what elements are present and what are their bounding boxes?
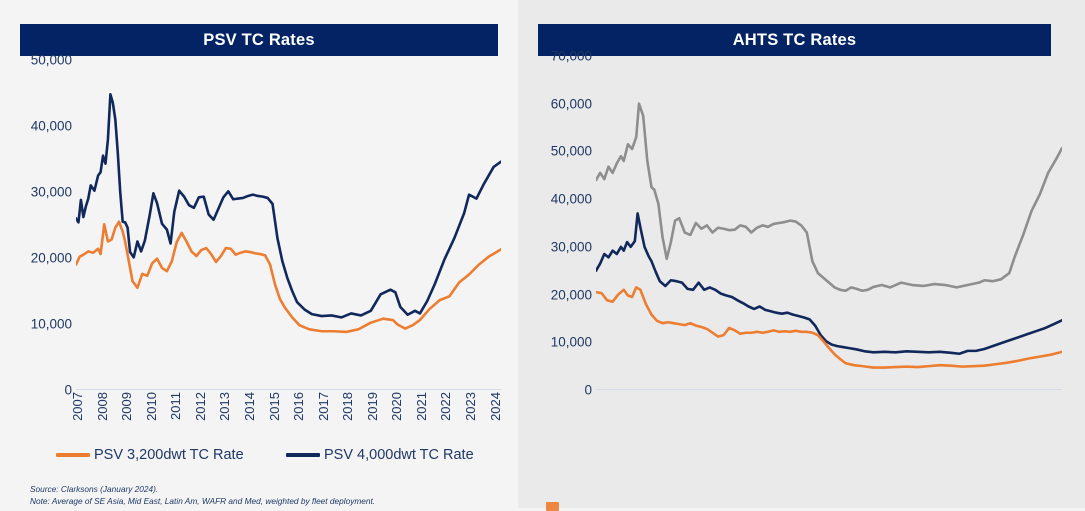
series-lines [596,56,1062,390]
y-tick-label: 10,000 [551,335,592,350]
y-tick-label: 30,000 [31,185,72,200]
psv-chart-plot: 010,00020,00030,00040,00050,000 [14,60,509,390]
psv-panel-title: PSV TC Rates [20,24,498,56]
ahts-chart-plot: 010,00020,00030,00040,00050,00060,00070,… [532,56,1072,390]
legend-label: PSV 3,200dwt TC Rate [94,447,244,463]
legend-row: PSV 3,200dwt TC RatePSV 4,000dwt TC Rate [56,443,516,467]
footnote-note: Note: Average of SE Asia, Mid East, Lati… [30,496,375,508]
x-tick-label: 2024 [488,392,503,421]
legend-label: PSV 4,000dwt TC Rate [324,447,474,463]
series-lines [76,60,501,390]
x-tick-label: 2014 [242,392,257,421]
x-tick-label: 2009 [119,392,134,421]
x-tick-label: 2019 [365,392,380,421]
footnote: Source: Clarksons (January 2024). Note: … [30,484,375,508]
x-tick-label: 2010 [144,392,159,421]
series-line-ahts-80t-bp-tc-rate [596,287,1062,367]
x-tick-label: 2020 [389,392,404,421]
x-tick-label: 2018 [340,392,355,421]
x-tick-label: 2017 [316,392,331,421]
legend-swatch-icon [56,453,90,457]
y-tick-label: 0 [584,383,592,398]
y-tick-label: 70,000 [551,49,592,64]
x-tick-label: 2011 [168,392,183,420]
psv-y-axis: 010,00020,00030,00040,00050,000 [14,60,72,390]
x-tick-label: 2012 [193,392,208,421]
x-tick-label: 2016 [291,392,306,421]
ahts-panel: AHTS TC Rates 010,00020,00030,00040,0005… [518,0,1085,508]
page-edge-marker [546,502,559,511]
series-line-ahts-200t-bp-tc-rate [596,104,1062,291]
psv-x-axis-labels: 2007200820092010201120122013201420152016… [76,392,557,436]
psv-panel: PSV TC Rates 010,00020,00030,00040,00050… [0,0,518,508]
x-tick-label: 2013 [217,392,232,421]
legend-swatch-icon [286,453,320,457]
y-tick-label: 10,000 [31,317,72,332]
psv-legend: PSV 3,200dwt TC RatePSV 4,000dwt TC Rate [56,443,516,467]
x-tick-label: 2022 [438,392,453,421]
y-tick-label: 50,000 [551,144,592,159]
y-tick-label: 30,000 [551,239,592,254]
x-tick-label: 2008 [95,392,110,421]
ahts-y-axis: 010,00020,00030,00040,00050,00060,00070,… [532,56,592,390]
y-tick-label: 20,000 [31,251,72,266]
psv-plot-canvas [76,60,501,390]
ahts-plot-canvas [596,56,1062,390]
y-tick-label: 40,000 [31,119,72,134]
legend-item-psv-3200dwt[interactable]: PSV 3,200dwt TC Rate [56,447,286,463]
x-tick-label: 2021 [414,392,429,421]
y-tick-label: 50,000 [31,53,72,68]
x-tick-label: 2007 [70,392,85,421]
y-tick-label: 40,000 [551,192,592,207]
legend-item-psv-4000dwt[interactable]: PSV 4,000dwt TC Rate [286,447,516,463]
x-tick-label: 2015 [267,392,282,421]
y-tick-label: 60,000 [551,96,592,111]
ahts-panel-title: AHTS TC Rates [538,24,1051,56]
footnote-source: Source: Clarksons (January 2024). [30,484,375,496]
x-tick-label: 2023 [463,392,478,421]
y-tick-label: 20,000 [551,287,592,302]
